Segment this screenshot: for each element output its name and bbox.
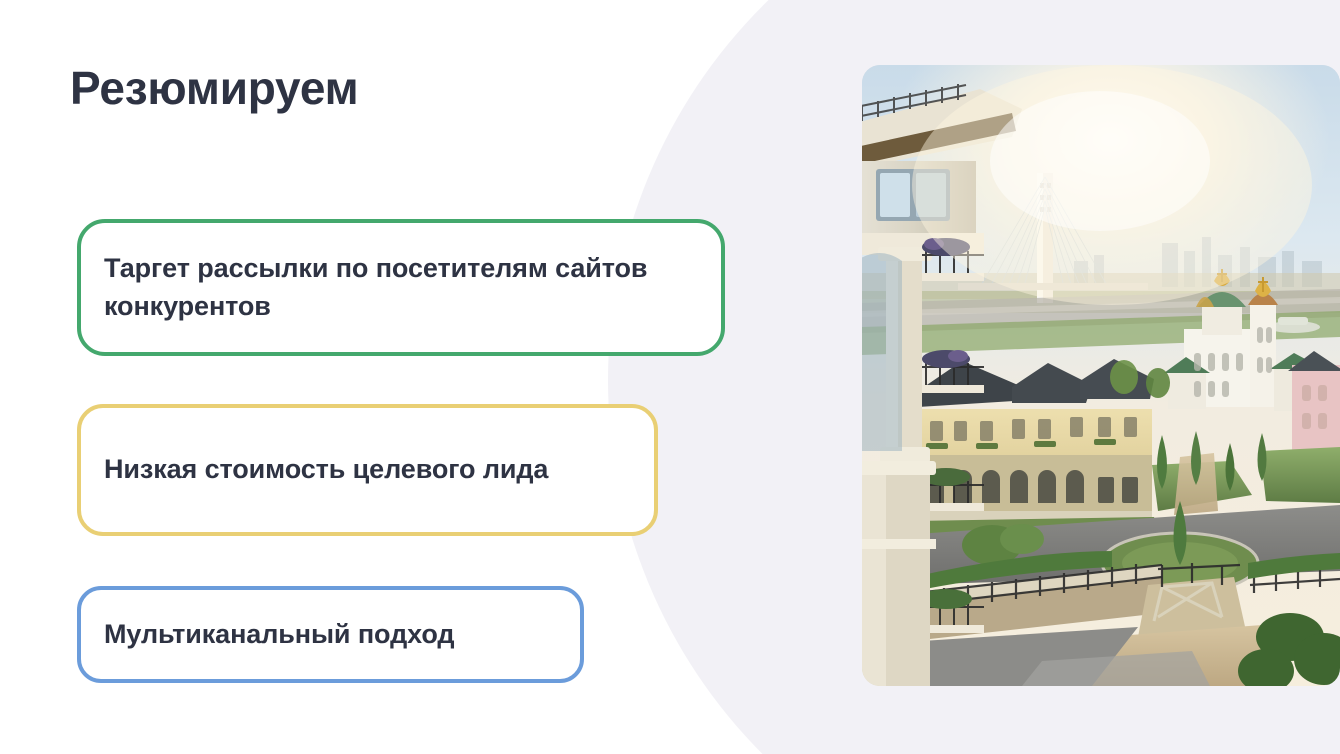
summary-card-yellow-label: Низкая стоимость целевого лида (81, 451, 572, 488)
summary-card-blue-label: Мультиканальный подход (81, 616, 478, 653)
summary-card-blue[interactable]: Мультиканальный подход (77, 586, 584, 683)
summary-card-yellow[interactable]: Низкая стоимость целевого лида (77, 404, 658, 536)
photo-illustration (862, 65, 1340, 686)
residential-complex-photo (862, 65, 1340, 686)
presentation-slide: Резюмируем Таргет рассылки по посетителя… (0, 0, 1340, 754)
summary-card-green-label: Таргет рассылки по посетителям сайтов ко… (81, 250, 721, 325)
page-title: Резюмируем (70, 64, 358, 112)
summary-card-green[interactable]: Таргет рассылки по посетителям сайтов ко… (77, 219, 725, 356)
